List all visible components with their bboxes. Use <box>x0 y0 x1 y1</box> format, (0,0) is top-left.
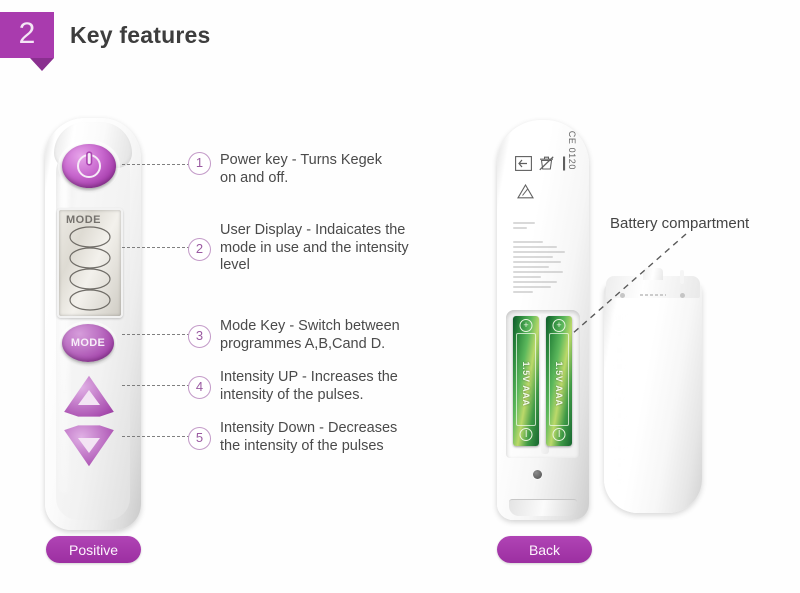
callout-text-1: Power key - Turns Kegek on and off. <box>220 152 382 187</box>
caption-positive[interactable]: Positive <box>46 536 141 563</box>
leader-line-4 <box>122 385 190 386</box>
callout-number-2: 2 <box>188 238 211 261</box>
callout-text-4: Intensity UP - Increases the intensity o… <box>220 369 398 404</box>
page-root: 2 Key features MODE <box>0 0 800 593</box>
battery-1-label: 1.5V AAA <box>521 361 531 406</box>
batch-bar-icon <box>561 156 567 171</box>
intensity-up-button[interactable] <box>62 374 116 418</box>
battery-1-minus-terminal <box>520 428 533 441</box>
callout-text-3: Mode Key - Switch between programmes A,B… <box>220 318 400 353</box>
section-number-badge: 2 <box>0 12 60 66</box>
lcd-mode-label: MODE <box>66 214 101 226</box>
weee-crossed-bin-icon <box>539 156 554 171</box>
caption-back-label: Back <box>529 542 560 558</box>
mode-key-button[interactable]: MODE <box>62 324 114 362</box>
back-device-screw <box>533 470 542 479</box>
callout-text-2: User Display - Indaicates the mode in us… <box>220 222 409 275</box>
badge-square: 2 <box>0 12 54 58</box>
battery-compartment-leader-line <box>500 230 690 340</box>
leader-line-3 <box>122 334 190 335</box>
battery-2-minus-terminal <box>553 428 566 441</box>
callout-number-3: 3 <box>188 325 211 348</box>
leader-line-1 <box>122 164 190 165</box>
caption-positive-label: Positive <box>69 542 118 558</box>
callout-2: 2 User Display - Indaicates the mode in … <box>188 222 409 275</box>
callout-number-4: 4 <box>188 376 211 399</box>
lcd-display: MODE <box>57 208 123 318</box>
regulatory-symbols-row <box>515 156 567 171</box>
page-title: Key features <box>70 12 210 58</box>
lcd-wave-graphic <box>67 226 113 312</box>
back-device-base <box>509 499 577 516</box>
callout-text-5: Intensity Down - Decreases the intensity… <box>220 420 397 455</box>
ce-mark-label: CE 0120 <box>567 131 577 170</box>
leader-line-2 <box>122 247 190 248</box>
callout-3: 3 Mode Key - Switch between programmes A… <box>188 318 400 353</box>
keep-away-from-sunlight-icon <box>515 156 532 171</box>
power-key-button[interactable] <box>62 144 116 188</box>
power-icon <box>77 154 101 178</box>
callout-1: 1 Power key - Turns Kegek on and off. <box>188 152 382 187</box>
front-device-image: MODE MODE <box>45 118 141 530</box>
triangle-down-icon <box>78 438 100 453</box>
caption-back[interactable]: Back <box>497 536 592 563</box>
triangle-up-icon <box>78 390 100 405</box>
callout-number-1: 1 <box>188 152 211 175</box>
callout-4: 4 Intensity UP - Increases the intensity… <box>188 369 398 404</box>
badge-number: 2 <box>19 19 36 49</box>
callout-number-5: 5 <box>188 427 211 450</box>
badge-tail <box>30 58 54 71</box>
callout-5: 5 Intensity Down - Decreases the intensi… <box>188 420 397 455</box>
mode-key-label: MODE <box>71 337 105 349</box>
page-header: 2 Key features <box>0 12 210 76</box>
warning-triangle-icon <box>517 184 534 199</box>
leader-line-5 <box>122 436 190 437</box>
intensity-down-button[interactable] <box>62 424 116 468</box>
battery-2-label: 1.5V AAA <box>554 361 564 406</box>
